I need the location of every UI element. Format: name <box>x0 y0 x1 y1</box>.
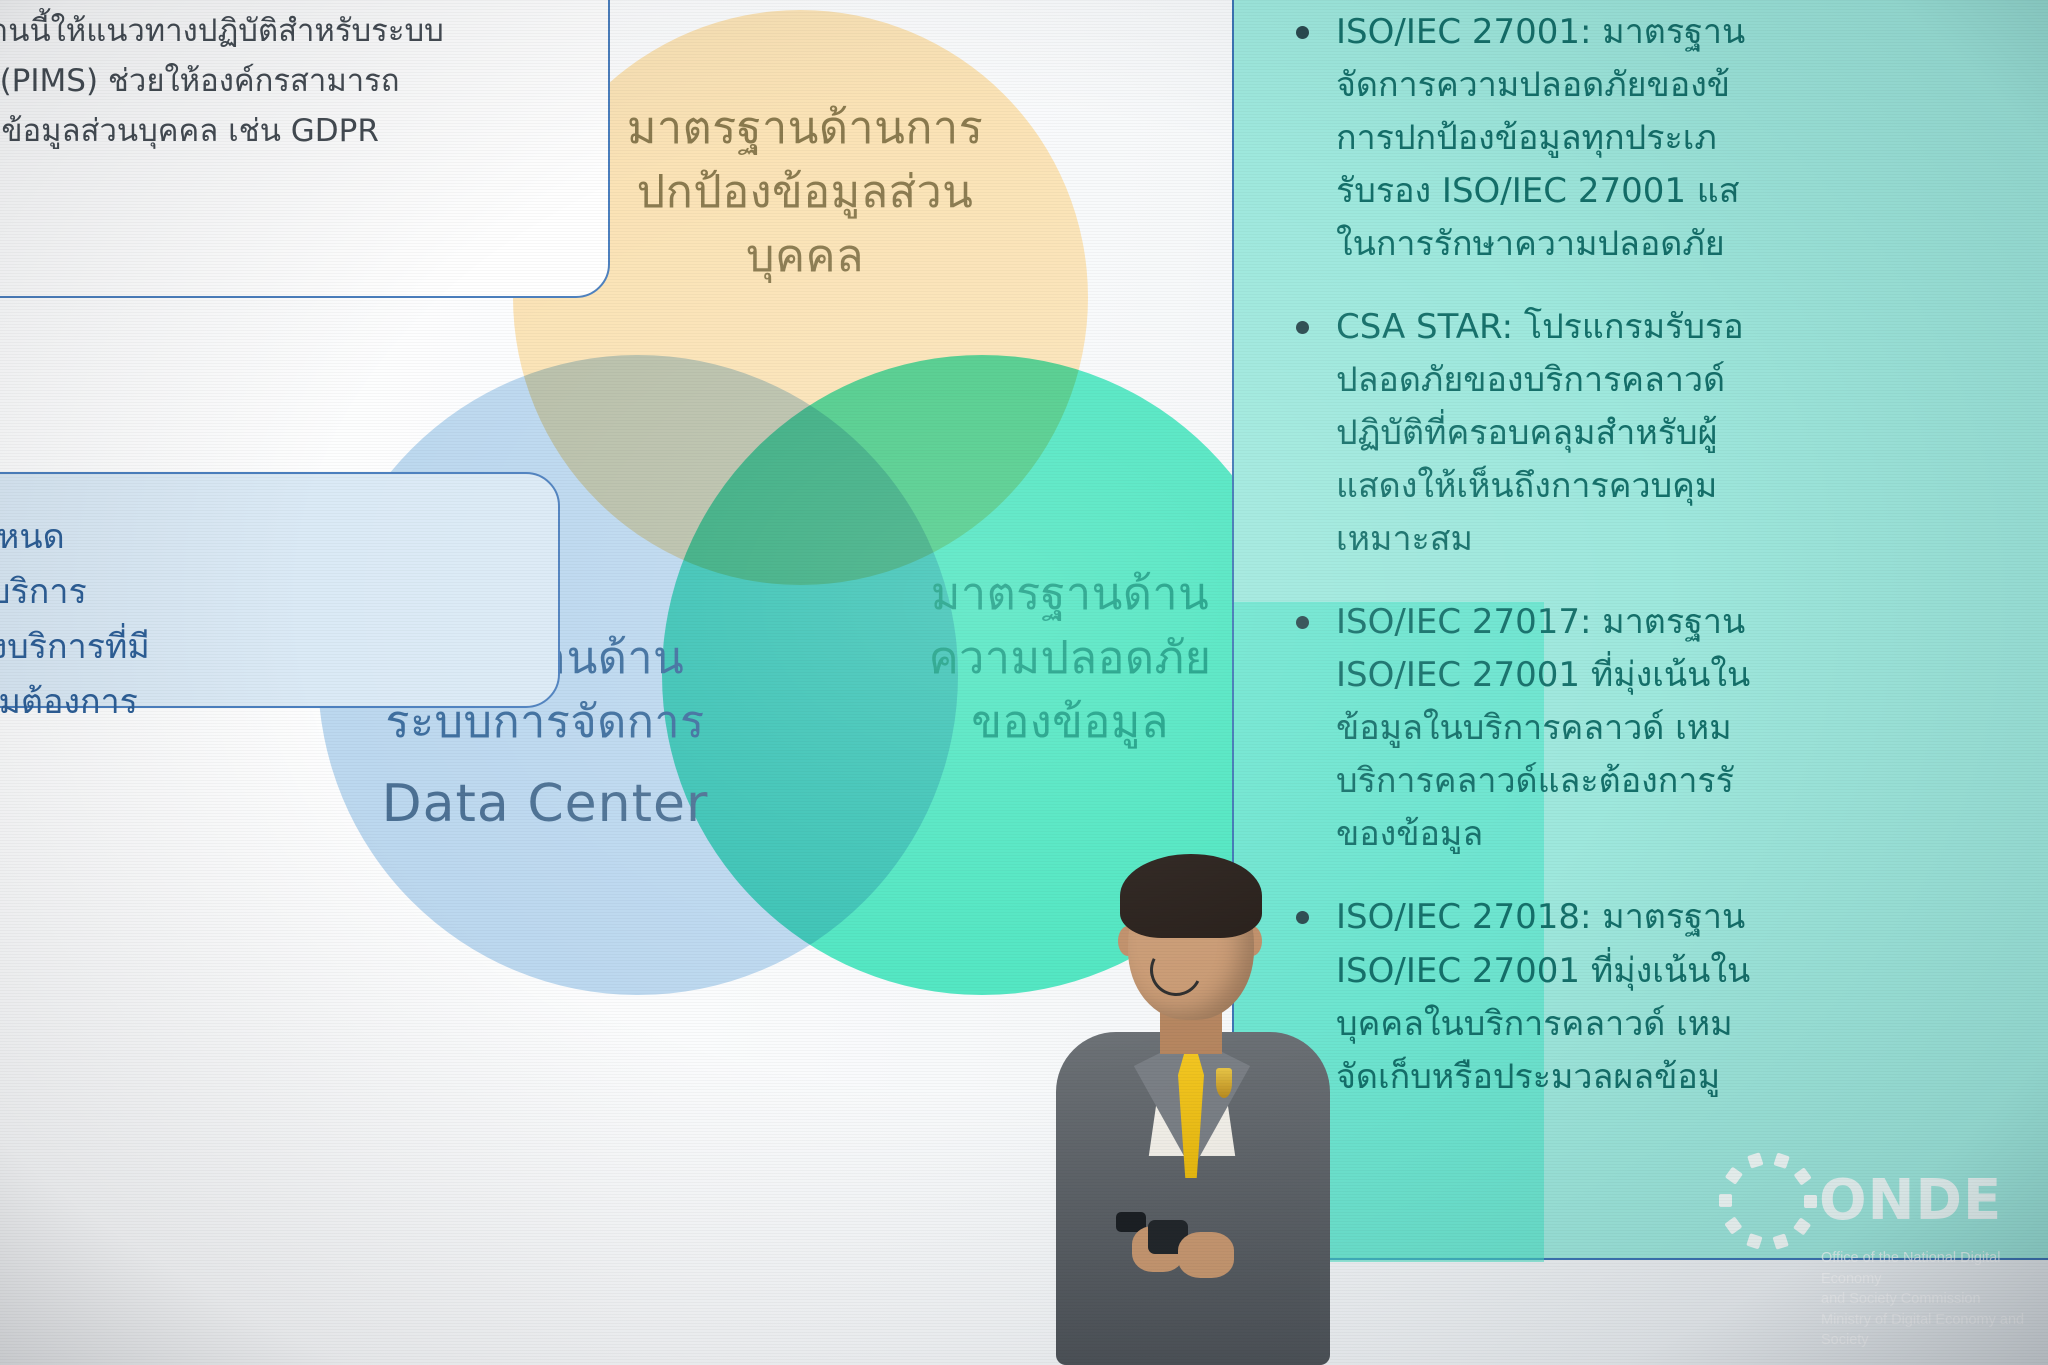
callout-iso-27701: IEC 27701: มาตรฐานนี้ให้แนวทางปฏิบัติสำห… <box>0 0 610 298</box>
presentation-stage-photo: มาตรฐานด้านการ ปกป้องข้อมูลส่วน บุคคล มา… <box>0 0 2048 1365</box>
presenter-lapel-pin <box>1216 1068 1232 1098</box>
callout-iso-20000-1: 000-1: มาตรฐานนี้กำหนด ำหรับระบบการจัดกา… <box>0 472 560 708</box>
bullet-csa-star: CSA STAR: โปรแกรมรับรอ ปลอดภัยของบริการค… <box>1336 301 2048 566</box>
bullet-iso-27017: ISO/IEC 27017: มาตรฐาน ISO/IEC 27001 ที่… <box>1336 596 2048 861</box>
bullet-iso-27018: ISO/IEC 27018: มาตรฐาน ISO/IEC 27001 ที่… <box>1336 891 2048 1103</box>
callout-iso-20000-1-text: 000-1: มาตรฐานนี้กำหนด ำหรับระบบการจัดกา… <box>0 510 510 730</box>
security-standards-bullet-list: ISO/IEC 27001: มาตรฐาน จัดการความปลอดภัย… <box>1278 6 2048 1104</box>
venn-label-security-standards: มาตรฐานด้าน ความปลอดภัย ของข้อมูล <box>870 562 1270 754</box>
presenter-hair <box>1120 854 1262 938</box>
onde-subtitle-line2: and Society Commission <box>1821 1289 2048 1310</box>
presenter-hand-right <box>1178 1232 1234 1278</box>
presenter-figure <box>1020 840 1360 1365</box>
onde-subtitle: Office of the National Digital Economy a… <box>1821 1248 2048 1351</box>
bullet-iso-27001: ISO/IEC 27001: มาตรฐาน จัดการความปลอดภัย… <box>1336 6 2048 271</box>
callout-iso-27701-text: IEC 27701: มาตรฐานนี้ให้แนวทางปฏิบัติสำห… <box>0 6 560 207</box>
onde-subtitle-line3: Ministry of Digital Economy and Society <box>1821 1310 2048 1351</box>
venn-label-privacy-standards: มาตรฐานด้านการ ปกป้องข้อมูลส่วน บุคคล <box>560 96 1050 288</box>
venn-label-data-center: Data Center <box>330 768 760 842</box>
